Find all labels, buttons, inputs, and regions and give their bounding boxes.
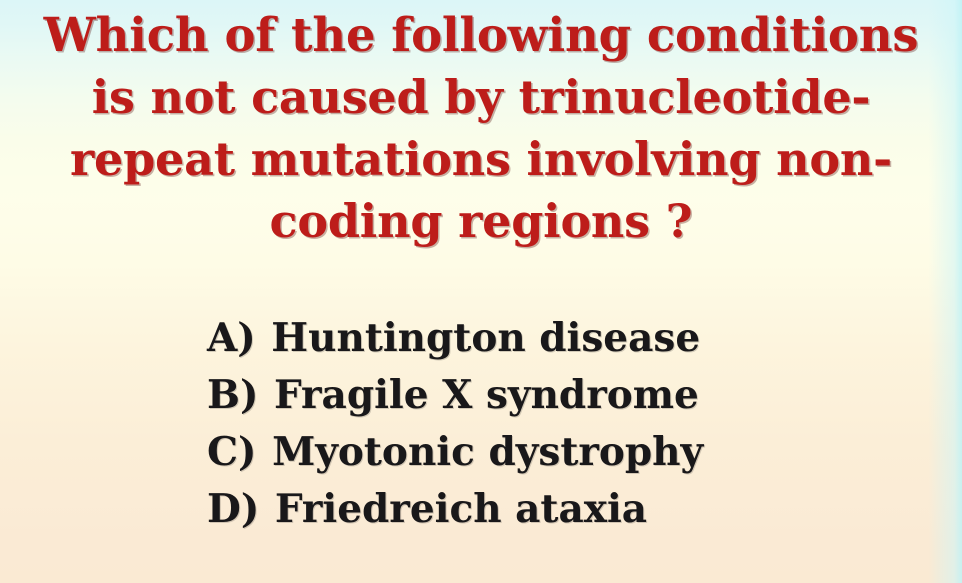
answer-option-d[interactable]: D) Friedreich ataxia — [207, 481, 907, 538]
question-line-4: coding regions ? — [8, 190, 954, 252]
quiz-slide: Which of the following conditions is not… — [0, 0, 962, 583]
answer-option-c-text: Myotonic dystrophy — [272, 429, 703, 475]
answer-options-list: A) Huntington disease B) Fragile X syndr… — [207, 310, 907, 538]
question-text: Which of the following conditions is not… — [0, 4, 962, 252]
answer-option-d-text: Friedreich ataxia — [275, 486, 647, 532]
question-line-3: repeat mutations involving non- — [8, 128, 954, 190]
answer-option-a-label: A) — [207, 315, 256, 361]
answer-option-d-label: D) — [207, 486, 259, 532]
answer-option-b[interactable]: B) Fragile X syndrome — [207, 367, 907, 424]
answer-option-b-text: Fragile X syndrome — [274, 372, 699, 418]
question-line-1: Which of the following conditions — [8, 4, 954, 66]
answer-option-a-text: Huntington disease — [271, 315, 700, 361]
answer-option-a[interactable]: A) Huntington disease — [207, 310, 907, 367]
answer-option-c-label: C) — [207, 429, 257, 475]
answer-option-b-label: B) — [207, 372, 258, 418]
answer-option-c[interactable]: C) Myotonic dystrophy — [207, 424, 907, 481]
question-line-2: is not caused by trinucleotide- — [8, 66, 954, 128]
